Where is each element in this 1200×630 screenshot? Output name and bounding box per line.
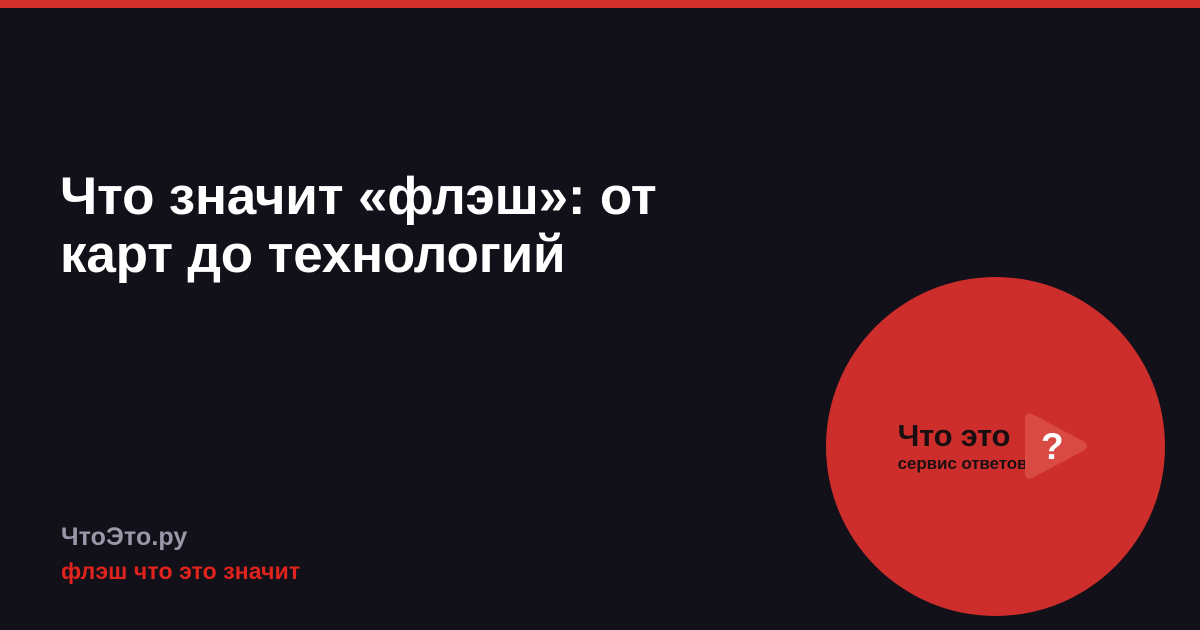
top-accent-bar (0, 0, 1200, 8)
logo-title: Что это (898, 419, 1010, 453)
question-mark-icon: ? (1035, 421, 1069, 471)
page-title: Что значит «флэш»: от карт до технологий (60, 168, 760, 284)
search-query-label: флэш что это значит (61, 557, 300, 585)
play-triangle-icon: ? (1015, 410, 1093, 482)
logo-wordmark: Что это сервис ответов (898, 419, 1030, 474)
social-preview-card: Что значит «флэш»: от карт до технологий… (0, 0, 1200, 630)
brand-block: ЧтоЭто.ру флэш что это значит (61, 522, 300, 585)
site-name: ЧтоЭто.ру (61, 522, 300, 552)
logo-tagline: сервис ответов (898, 454, 1028, 474)
logo-lockup: Что это сервис ответов ? (826, 400, 1165, 492)
logo-badge: Что это сервис ответов ? (826, 277, 1165, 616)
